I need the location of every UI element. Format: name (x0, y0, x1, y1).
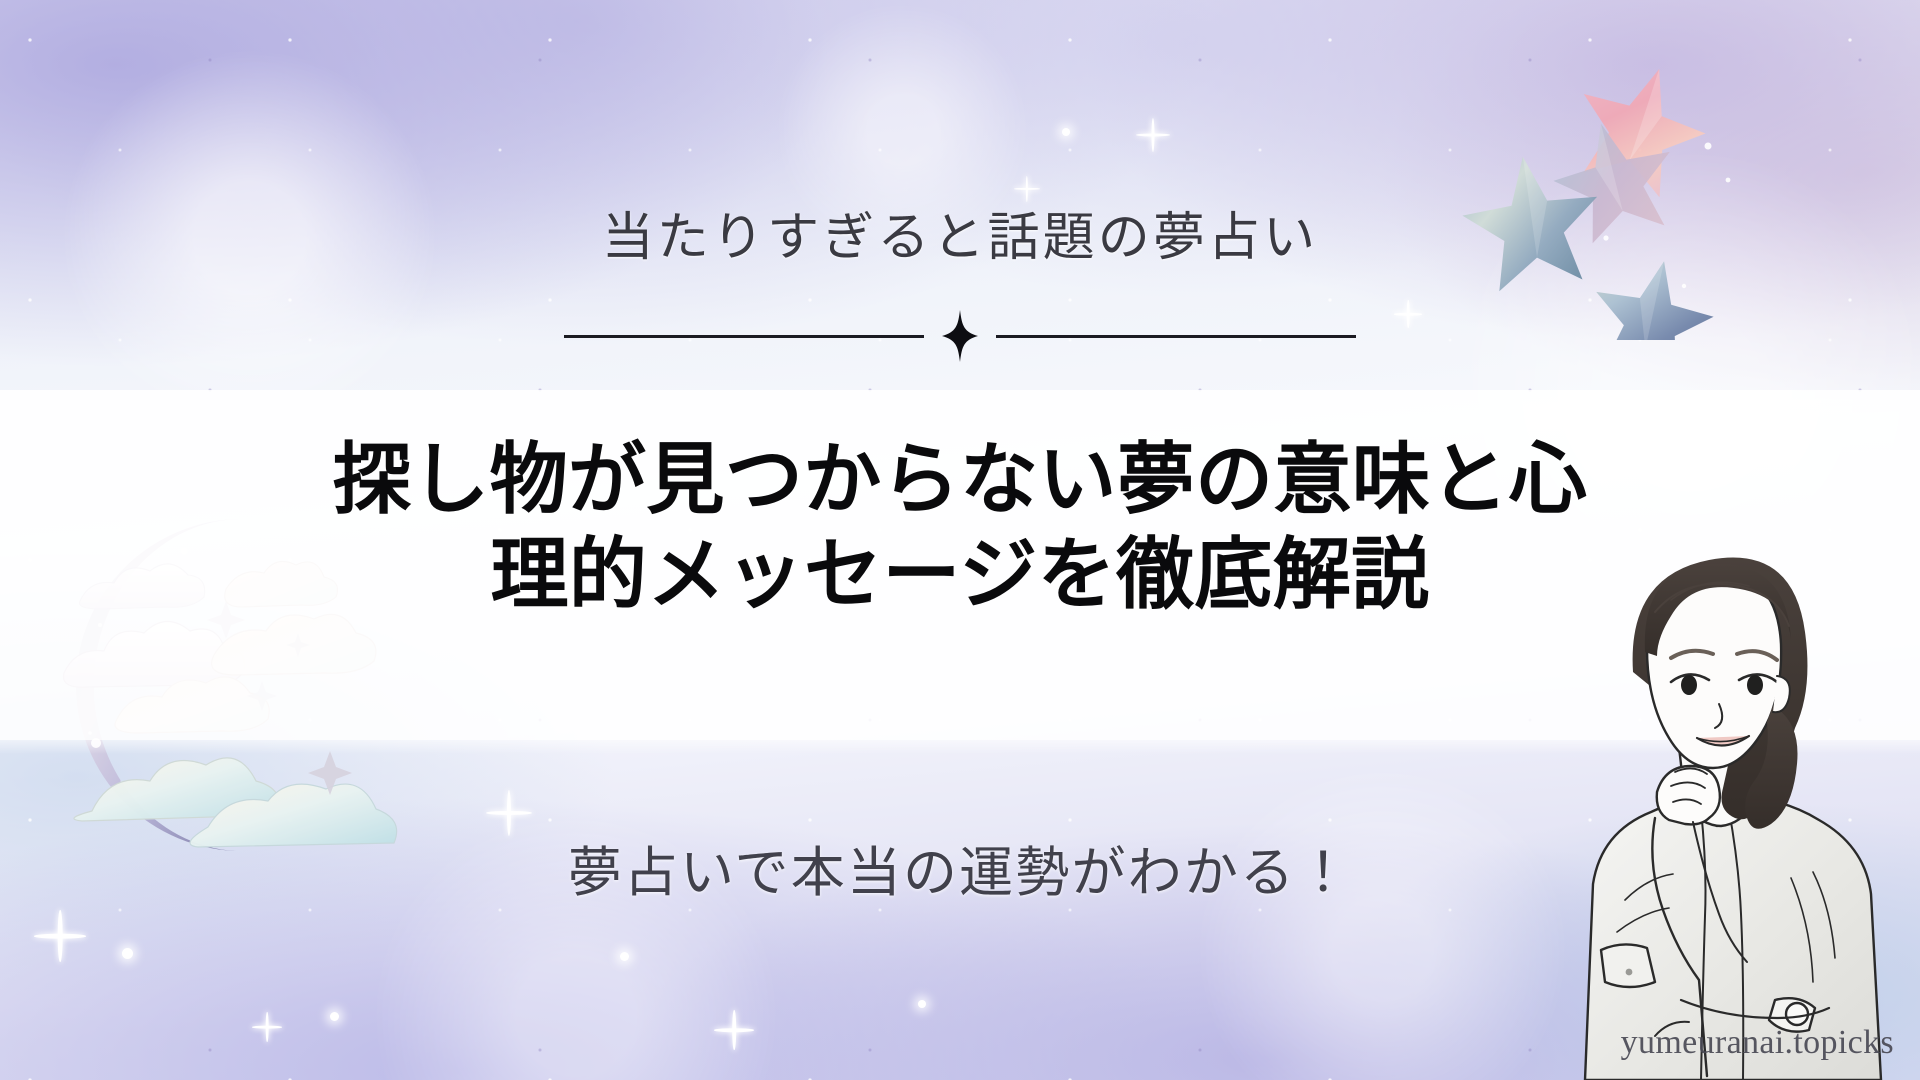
page-title-line-1: 探し物が見つからない夢の意味と心 (333, 435, 1587, 523)
watercolor-star-cluster (1440, 50, 1750, 340)
eyebrow-heading-text: 当たりすぎると話題の夢占い (602, 208, 1319, 270)
eyebrow-heading: 当たりすぎると話題の夢占い (0, 208, 1920, 270)
decorative-divider (0, 310, 1920, 362)
page-title-line-2: 理的メッセージを徹底解説 (490, 530, 1429, 618)
site-watermark: yumeuranai.topicks (1621, 1024, 1894, 1062)
dream-fortune-banner: 当たりすぎると話題の夢占い 探し物が見つからない夢の意味と心 理的メッセージを徹… (0, 0, 1920, 1080)
divider-line-left (564, 335, 924, 338)
subtitle: 夢占いで本当の運勢がわかる！ (0, 828, 1920, 907)
divider-line-right (996, 335, 1356, 338)
four-point-sparkle-icon (942, 310, 978, 362)
subtitle-text: 夢占いで本当の運勢がわかる！ (568, 843, 1353, 903)
page-title: 探し物が見つからない夢の意味と心 理的メッセージを徹底解説 (0, 432, 1920, 622)
